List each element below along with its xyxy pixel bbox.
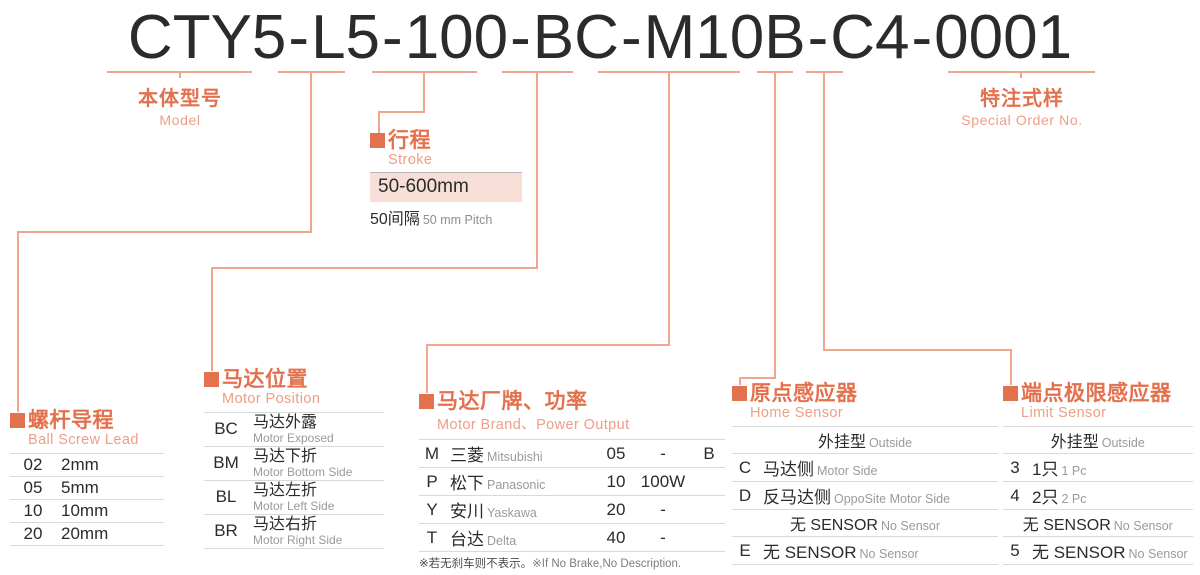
group-limit-sensor-heading: 端点极限感应器 — [1003, 383, 1193, 404]
brand-en: Mitsubishi — [487, 450, 543, 464]
brand-name: 安川Yaskawa — [445, 496, 599, 524]
group-ball-screw-lead-title: 螺杆导程 — [28, 409, 114, 432]
code-segment-motor-position: BC — [533, 2, 619, 73]
group-ball-screw-lead-subtitle: Ball Screw Lead — [28, 432, 164, 448]
power-code: 40 — [599, 524, 633, 552]
table-row[interactable]: 5 无 SENSORNo Sensor — [1003, 537, 1193, 565]
brand-code: M — [419, 440, 445, 468]
home-sensor-cn: 无 SENSOR — [763, 543, 857, 562]
limit-sensor-value: 无 SENSORNo Sensor — [1027, 537, 1193, 565]
brand-en: Delta — [487, 534, 516, 548]
group-ball-screw-lead-heading: 螺杆导程 — [10, 410, 164, 431]
brand-cn: 松下 — [450, 474, 484, 493]
limit-sensor-section-header: 无 SENSORNo Sensor — [1003, 510, 1193, 537]
code-breakdown-diagram: CTY5-L5-100-BC-M10B-C4-0001 本体型号 Model 特… — [0, 0, 1200, 575]
group-limit-sensor: 端点极限感应器 Limit Sensor 外挂型Outside 3 1只1 Pc… — [1003, 383, 1193, 565]
home-sensor-code: C — [732, 454, 758, 482]
bullet-square-icon — [370, 133, 385, 148]
home-sensor-cn: 马达侧 — [763, 460, 814, 479]
limit-sensor-value: 2只2 Pc — [1027, 482, 1193, 510]
lead-code: 20 — [10, 523, 56, 546]
table-row-header: 无 SENSORNo Sensor — [1003, 510, 1193, 537]
motor-position-code: BR — [204, 514, 248, 548]
group-motor-position: 马达位置 Motor Position BC 马达外露 Motor Expose… — [204, 369, 384, 549]
home-sensor-value: 马达侧Motor Side — [758, 454, 998, 482]
motor-position-table: BC 马达外露 Motor Exposed BM 马达下折 Motor Bott… — [204, 412, 384, 549]
table-row[interactable]: D 反马达侧OppoSite Motor Side — [732, 482, 998, 510]
limit-sensor-en: 2 Pc — [1061, 492, 1086, 506]
lead-code: 10 — [10, 500, 56, 523]
limit-sensor-code: 4 — [1003, 482, 1027, 510]
limit-sensor-cn: 2只 — [1032, 488, 1058, 507]
group-motor-brand-heading: 马达厂牌、功率 — [419, 391, 725, 412]
motor-position-code: BM — [204, 446, 248, 480]
table-row-header: 外挂型Outside — [1003, 427, 1193, 454]
limit-sensor-section-header: 外挂型Outside — [1003, 427, 1193, 454]
power-value: - — [633, 496, 693, 524]
brand-code: T — [419, 524, 445, 552]
lead-value: 10mm — [56, 500, 164, 523]
code-dash: - — [380, 2, 405, 73]
group-stroke-title: 行程 — [388, 129, 431, 152]
home-sensor-code: D — [732, 482, 758, 510]
table-row[interactable]: BL 马达左折 Motor Left Side — [204, 480, 384, 514]
stroke-pitch-en: 50 mm Pitch — [423, 213, 492, 227]
motor-position-en: Motor Exposed — [253, 432, 379, 445]
brand-cn: 三菱 — [450, 446, 484, 465]
bullet-square-icon — [1003, 386, 1018, 401]
stroke-pitch-cn: 50间隔 — [370, 211, 420, 228]
table-row-header: 无 SENSORNo Sensor — [732, 510, 998, 537]
motor-position-en: Motor Left Side — [253, 500, 379, 513]
table-row[interactable]: 20 20mm — [10, 523, 164, 546]
group-motor-position-subtitle: Motor Position — [222, 391, 384, 407]
home-sensor-section-cn: 外挂型 — [818, 434, 866, 451]
power-value: 100W — [633, 468, 693, 496]
bullet-square-icon — [10, 413, 25, 428]
home-sensor-value: 无 SENSORNo Sensor — [758, 537, 998, 565]
group-ball-screw-lead: 螺杆导程 Ball Screw Lead 02 2mm 05 5mm 10 10… — [10, 410, 164, 546]
motor-brand-power-table: M 三菱Mitsubishi 05 - B P 松下Panasonic 10 1… — [419, 439, 725, 552]
motor-position-cn: 马达下折 — [253, 448, 379, 466]
table-row[interactable]: C 马达侧Motor Side — [732, 454, 998, 482]
group-home-sensor-heading: 原点感应器 — [732, 383, 998, 404]
motor-position-value: 马达右折 Motor Right Side — [248, 514, 384, 548]
group-stroke: 行程 Stroke 50-600mm 50间隔50 mm Pitch — [370, 130, 522, 229]
lead-value: 20mm — [56, 523, 164, 546]
code-segment-model: CTY5 — [128, 2, 286, 73]
brake-code — [693, 468, 725, 496]
motor-position-value: 马达下折 Motor Bottom Side — [248, 446, 384, 480]
table-row[interactable]: M 三菱Mitsubishi 05 - B — [419, 440, 725, 468]
code-dash: - — [508, 2, 533, 73]
table-row[interactable]: 10 10mm — [10, 500, 164, 523]
home-sensor-en: Motor Side — [817, 464, 877, 478]
limit-sensor-table: 外挂型Outside 3 1只1 Pc 4 2只2 Pc — [1003, 426, 1193, 565]
code-dash: - — [286, 2, 311, 73]
group-special-order: 特注式样 Special Order No. — [948, 82, 1096, 128]
code-dash: - — [909, 2, 934, 73]
brand-code: P — [419, 468, 445, 496]
table-row[interactable]: BC 马达外露 Motor Exposed — [204, 413, 384, 447]
limit-sensor-code: 5 — [1003, 537, 1027, 565]
brand-name: 台达Delta — [445, 524, 599, 552]
group-stroke-heading: 行程 — [370, 130, 522, 151]
home-sensor-code: E — [732, 537, 758, 565]
code-segment-special-order: 0001 — [934, 2, 1072, 73]
code-dash: - — [806, 2, 831, 73]
motor-position-value: 马达外露 Motor Exposed — [248, 413, 384, 447]
motor-position-cn: 马达左折 — [253, 482, 379, 500]
lead-code: 05 — [10, 477, 56, 500]
lead-value: 2mm — [56, 454, 164, 477]
table-row[interactable]: P 松下Panasonic 10 100W — [419, 468, 725, 496]
group-motor-brand-power: 马达厂牌、功率 Motor Brand、Power Output M 三菱Mit… — [419, 391, 725, 571]
table-row[interactable]: BR 马达右折 Motor Right Side — [204, 514, 384, 548]
brake-code — [693, 496, 725, 524]
product-code: CTY5-L5-100-BC-M10B-C4-0001 — [0, 2, 1200, 73]
group-motor-position-heading: 马达位置 — [204, 369, 384, 390]
motor-brand-note-en: ※If No Brake,No Description. — [532, 558, 681, 570]
brand-en: Yaskawa — [487, 506, 537, 520]
bullet-square-icon — [419, 394, 434, 409]
table-row-header: 外挂型Outside — [732, 427, 998, 454]
motor-position-en: Motor Bottom Side — [253, 466, 379, 479]
power-value: - — [633, 440, 693, 468]
group-stroke-subtitle: Stroke — [388, 152, 522, 168]
limit-sensor-code: 3 — [1003, 454, 1027, 482]
motor-position-en: Motor Right Side — [253, 534, 379, 547]
group-home-sensor: 原点感应器 Home Sensor 外挂型Outside C 马达侧Motor … — [732, 383, 998, 565]
group-motor-brand-subtitle: Motor Brand、Power Output — [437, 413, 725, 434]
home-sensor-section-header: 无 SENSORNo Sensor — [732, 510, 998, 537]
brand-cn: 安川 — [450, 502, 484, 521]
code-dash: - — [619, 2, 644, 73]
code-segment-sensors: C4 — [830, 2, 909, 73]
brake-code — [693, 524, 725, 552]
table-row[interactable]: BM 马达下折 Motor Bottom Side — [204, 446, 384, 480]
power-code: 05 — [599, 440, 633, 468]
motor-position-code: BL — [204, 480, 248, 514]
group-motor-position-title: 马达位置 — [222, 368, 308, 391]
group-special-order-subtitle: Special Order No. — [948, 112, 1096, 128]
brand-cn: 台达 — [450, 530, 484, 549]
home-sensor-section-en: No Sensor — [881, 519, 940, 533]
home-sensor-table: 外挂型Outside C 马达侧Motor Side D 反马达侧OppoSit… — [732, 426, 998, 565]
home-sensor-cn: 反马达侧 — [763, 488, 831, 507]
ball-screw-lead-table: 02 2mm 05 5mm 10 10mm 20 20mm — [10, 453, 164, 546]
group-model-subtitle: Model — [110, 112, 250, 128]
brake-code: B — [693, 440, 725, 468]
power-value: - — [633, 524, 693, 552]
group-model: 本体型号 Model — [110, 82, 250, 128]
group-home-sensor-subtitle: Home Sensor — [750, 405, 998, 421]
power-code: 10 — [599, 468, 633, 496]
brand-name: 三菱Mitsubishi — [445, 440, 599, 468]
motor-position-code: BC — [204, 413, 248, 447]
table-row[interactable]: 4 2只2 Pc — [1003, 482, 1193, 510]
bullet-square-icon — [204, 372, 219, 387]
group-motor-brand-title: 马达厂牌、功率 — [437, 390, 588, 413]
home-sensor-en: No Sensor — [860, 547, 919, 561]
table-row[interactable]: 05 5mm — [10, 477, 164, 500]
group-limit-sensor-title: 端点极限感应器 — [1021, 382, 1172, 405]
brand-name: 松下Panasonic — [445, 468, 599, 496]
bullet-square-icon — [732, 386, 747, 401]
motor-position-cn: 马达右折 — [253, 516, 379, 534]
limit-sensor-section-cn: 外挂型 — [1051, 434, 1099, 451]
home-sensor-section-en: Outside — [869, 436, 912, 450]
stroke-range-value: 50-600mm — [370, 172, 522, 202]
limit-sensor-section-en: Outside — [1102, 436, 1145, 450]
table-row[interactable]: T 台达Delta 40 - — [419, 524, 725, 552]
limit-sensor-cn: 1只 — [1032, 460, 1058, 479]
limit-sensor-en: 1 Pc — [1061, 464, 1086, 478]
group-special-order-title: 特注式样 — [948, 82, 1096, 111]
limit-sensor-en: No Sensor — [1129, 547, 1188, 561]
motor-brand-note: ※若无刹车则不表示。※If No Brake,No Description. — [419, 555, 725, 571]
home-sensor-en: OppoSite Motor Side — [834, 492, 950, 506]
motor-position-value: 马达左折 Motor Left Side — [248, 480, 384, 514]
code-segment-motor-brand: M10B — [644, 2, 806, 73]
table-row[interactable]: 3 1只1 Pc — [1003, 454, 1193, 482]
motor-brand-note-cn: ※若无刹车则不表示。 — [419, 558, 532, 570]
stroke-pitch: 50间隔50 mm Pitch — [370, 205, 522, 229]
table-row[interactable]: E 无 SENSORNo Sensor — [732, 537, 998, 565]
limit-sensor-section-cn: 无 SENSOR — [1023, 517, 1111, 534]
brand-code: Y — [419, 496, 445, 524]
home-sensor-section-cn: 无 SENSOR — [790, 517, 878, 534]
limit-sensor-value: 1只1 Pc — [1027, 454, 1193, 482]
limit-sensor-section-en: No Sensor — [1114, 519, 1173, 533]
code-segment-stroke: 100 — [405, 2, 508, 73]
group-model-title: 本体型号 — [110, 82, 250, 111]
table-row[interactable]: Y 安川Yaskawa 20 - — [419, 496, 725, 524]
power-code: 20 — [599, 496, 633, 524]
home-sensor-section-header: 外挂型Outside — [732, 427, 998, 454]
lead-code: 02 — [10, 454, 56, 477]
group-limit-sensor-subtitle: Limit Sensor — [1021, 405, 1193, 421]
motor-position-cn: 马达外露 — [253, 414, 379, 432]
code-segment-lead: L5 — [311, 2, 380, 73]
lead-value: 5mm — [56, 477, 164, 500]
home-sensor-value: 反马达侧OppoSite Motor Side — [758, 482, 998, 510]
group-home-sensor-title: 原点感应器 — [750, 382, 858, 405]
brand-en: Panasonic — [487, 478, 545, 492]
table-row[interactable]: 02 2mm — [10, 454, 164, 477]
limit-sensor-cn: 无 SENSOR — [1032, 543, 1126, 562]
